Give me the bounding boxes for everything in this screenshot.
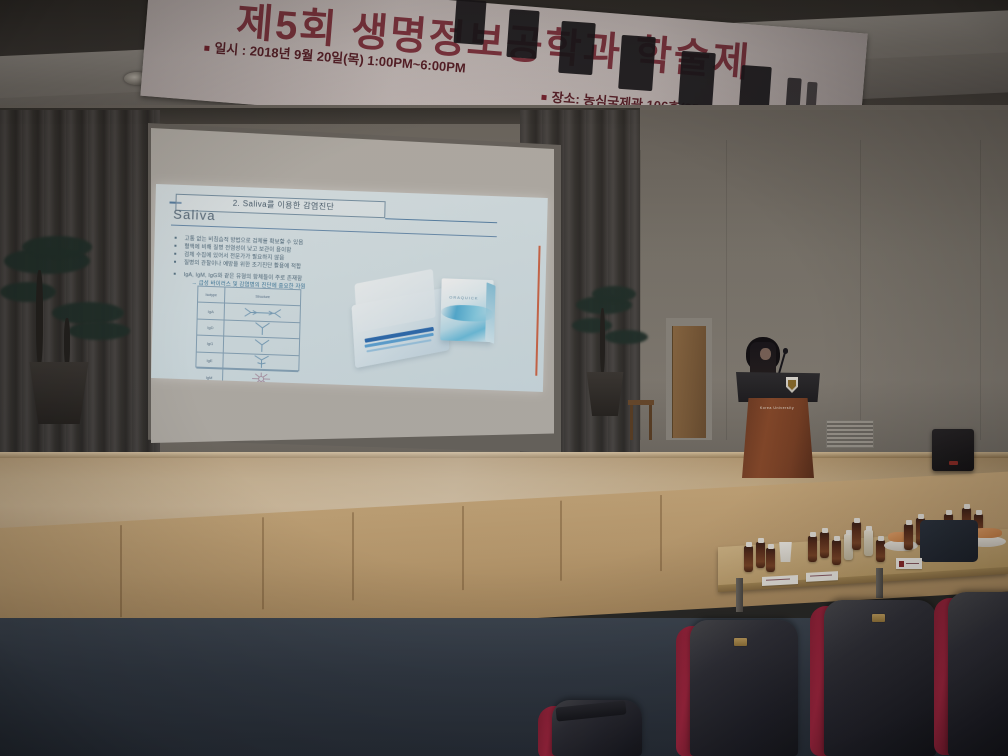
bottle-cap	[866, 526, 872, 531]
hanging-fixture	[454, 0, 487, 45]
slide-heading: Saliva	[173, 207, 216, 224]
table-cell-isotype: IgA	[198, 303, 225, 319]
slide-content: 2. Saliva를 이용한 감염진단 Saliva 고통 없는 비침습적 방법…	[151, 184, 548, 392]
slide-bullet-marker	[174, 273, 176, 275]
slide-bullet-marker	[174, 245, 176, 247]
wall-seam	[980, 140, 981, 440]
antibody-isotype-table: Isotype Structure IgA IgD	[195, 286, 301, 372]
table-header-structure: Structure	[225, 288, 300, 306]
presenter-face	[760, 348, 771, 360]
stage-side-door[interactable]	[672, 326, 706, 438]
apron-panel-divider	[352, 512, 354, 600]
bottle-cap	[768, 544, 774, 549]
lecture-hall-photo: 제5회 생명정보공학과 학술제 일시 : 2018년 9월 20일(목) 1:0…	[0, 0, 1008, 756]
seat-back	[948, 592, 1008, 756]
hanging-fixture	[618, 35, 656, 91]
speaker-brand-badge	[949, 461, 958, 465]
apron-panel-divider	[120, 525, 122, 617]
seat-number-plate	[872, 614, 885, 622]
bottle-cap	[906, 520, 912, 525]
bottle-cap	[810, 532, 816, 537]
auditorium-seat[interactable]	[690, 620, 798, 756]
beverage-bottle[interactable]	[904, 524, 913, 550]
bottle-cap	[834, 536, 840, 541]
hanging-fixture	[506, 9, 539, 59]
bottle-cap	[918, 514, 924, 519]
handout-paper[interactable]	[762, 575, 798, 586]
lectern-top	[736, 372, 820, 402]
bottle-cap	[946, 510, 952, 515]
wall-seam	[726, 140, 727, 440]
antibody-iga-icon	[225, 304, 300, 322]
hanging-fixture	[678, 51, 716, 107]
seat-back	[824, 600, 936, 756]
antibody-igg-icon	[224, 337, 299, 355]
table-leg	[876, 568, 883, 598]
chair-leg	[630, 405, 633, 440]
test-kit-brand-label: ORAQUICK	[449, 295, 478, 301]
antibody-igd-icon	[224, 320, 299, 338]
slide-bullet-marker	[174, 253, 176, 255]
bag-on-table[interactable]	[920, 520, 978, 562]
stage-side-chair[interactable]	[628, 400, 654, 440]
bottle-cap	[878, 536, 884, 541]
beverage-bottle[interactable]	[820, 532, 829, 558]
beverage-bottle[interactable]	[744, 546, 753, 572]
table-header-isotype: Isotype	[198, 287, 225, 303]
apron-panel-divider	[262, 517, 264, 609]
beverage-bottle[interactable]	[808, 536, 817, 562]
bottle-cap	[976, 510, 982, 515]
wall-air-vent	[826, 420, 874, 448]
table-leg	[736, 578, 743, 612]
slide-bullet-marker	[175, 237, 177, 239]
table-cell-isotype: IgE	[196, 352, 223, 368]
bottle-cap	[758, 538, 764, 543]
table-cell-isotype: IgD	[197, 319, 224, 335]
antibody-igm-icon	[223, 369, 298, 388]
table-cell-isotype: IgG	[197, 336, 224, 352]
bottle-cap	[846, 530, 852, 535]
seat-number-plate	[734, 638, 747, 646]
slide-title-rule	[385, 218, 497, 223]
name-placard	[896, 558, 922, 569]
table-cell-isotype: IgM	[196, 369, 223, 386]
apron-panel-divider	[660, 495, 662, 571]
apron-panel-divider	[462, 506, 464, 590]
projection-screen: 2. Saliva를 이용한 감염진단 Saliva 고통 없는 비침습적 방법…	[151, 128, 554, 443]
chair-leg	[649, 405, 652, 440]
bottle-cap	[746, 542, 752, 547]
placard-text-line	[906, 563, 919, 564]
table-row: IgM	[196, 369, 298, 389]
beverage-bottle[interactable]	[864, 530, 873, 556]
wall-seam	[860, 140, 861, 440]
saliva-test-kit-image: ORAQUICK	[347, 265, 498, 374]
apron-panel-divider	[560, 501, 562, 581]
slide-bullet-marker	[174, 261, 176, 263]
hanging-fixture	[558, 21, 596, 75]
beverage-bottle[interactable]	[852, 522, 861, 550]
bottle-cap	[964, 504, 970, 509]
bottle-cap	[822, 528, 828, 533]
antibody-ige-icon	[223, 353, 298, 371]
bottle-cap	[854, 518, 860, 523]
microphone-head-icon	[783, 348, 788, 354]
auditorium-seat[interactable]	[948, 592, 1008, 756]
lectern-nameplate: Korea University	[745, 406, 809, 410]
paper-text-line	[766, 578, 790, 581]
beverage-bottle[interactable]	[766, 548, 775, 572]
beverage-bottle[interactable]	[756, 542, 765, 568]
handout-paper[interactable]	[806, 571, 838, 582]
slide-right-accent-bar	[536, 246, 541, 376]
wall-seam	[640, 150, 641, 440]
placard-crest-icon	[899, 561, 904, 567]
beverage-bottle[interactable]	[832, 540, 841, 565]
auditorium-seat[interactable]	[824, 600, 936, 756]
lectern-base	[742, 398, 814, 478]
paper-text-line	[810, 574, 832, 577]
